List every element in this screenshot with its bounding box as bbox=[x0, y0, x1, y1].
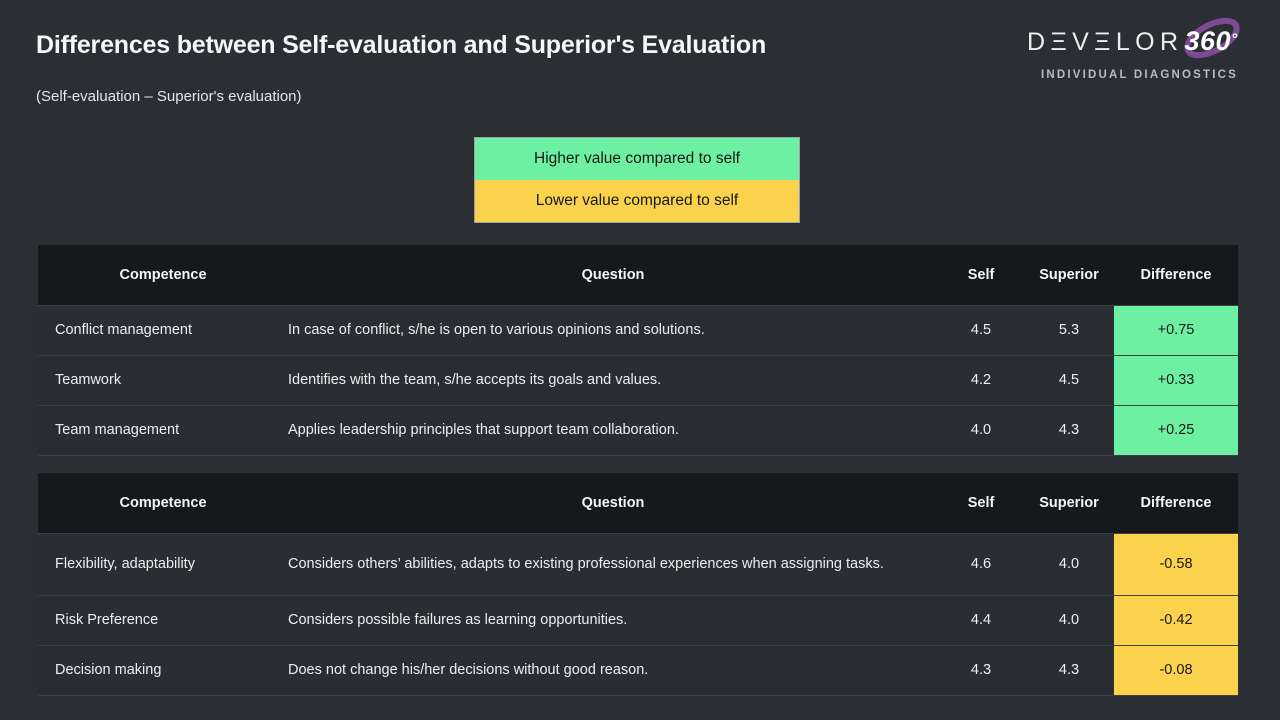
cell-competence: Risk Preference bbox=[38, 595, 288, 645]
table-header-row: Competence Question Self Superior Differ… bbox=[38, 245, 1238, 305]
cell-question: Identifies with the team, s/he accepts i… bbox=[288, 355, 938, 405]
logo-360-group: 360° bbox=[1184, 26, 1238, 57]
legend-item-lower: Lower value compared to self bbox=[475, 180, 799, 222]
legend-item-higher: Higher value compared to self bbox=[475, 138, 799, 180]
logo-tagline: INDIVIDUAL DIAGNOSTICS bbox=[978, 69, 1238, 81]
cell-competence: Team management bbox=[38, 405, 288, 455]
cell-difference: -0.42 bbox=[1114, 595, 1238, 645]
higher-values-table-body: Conflict managementIn case of conflict, … bbox=[38, 305, 1238, 455]
cell-question: Applies leadership principles that suppo… bbox=[288, 405, 938, 455]
logo-develor-text: DΞVΞLOR bbox=[1027, 28, 1183, 57]
logo-wordmark: DΞVΞLOR 360° bbox=[978, 26, 1238, 60]
cell-difference: +0.33 bbox=[1114, 355, 1238, 405]
cell-self: 4.2 bbox=[938, 355, 1024, 405]
cell-superior: 4.0 bbox=[1024, 533, 1114, 595]
cell-superior: 5.3 bbox=[1024, 305, 1114, 355]
cell-self: 4.6 bbox=[938, 533, 1024, 595]
page-title: Differences between Self-evaluation and … bbox=[36, 31, 766, 60]
cell-question: Considers possible failures as learning … bbox=[288, 595, 938, 645]
column-header-superior: Superior bbox=[1024, 245, 1114, 305]
page-subtitle: (Self-evaluation – Superior's evaluation… bbox=[36, 88, 302, 105]
cell-self: 4.3 bbox=[938, 645, 1024, 695]
cell-question: Considers others’ abilities, adapts to e… bbox=[288, 533, 938, 595]
cell-difference: +0.25 bbox=[1114, 405, 1238, 455]
table-row: Team managementApplies leadership princi… bbox=[38, 405, 1238, 455]
table-row: TeamworkIdentifies with the team, s/he a… bbox=[38, 355, 1238, 405]
logo-360-text: 360 bbox=[1184, 26, 1231, 56]
column-header-competence: Competence bbox=[38, 245, 288, 305]
cell-competence: Flexibility, adaptability bbox=[38, 533, 288, 595]
lower-values-table-body: Flexibility, adaptabilityConsiders other… bbox=[38, 533, 1238, 695]
column-header-superior: Superior bbox=[1024, 473, 1114, 533]
cell-competence: Decision making bbox=[38, 645, 288, 695]
column-header-competence: Competence bbox=[38, 473, 288, 533]
table-header-row: Competence Question Self Superior Differ… bbox=[38, 473, 1238, 533]
cell-competence: Teamwork bbox=[38, 355, 288, 405]
logo-degree-icon: ° bbox=[1232, 31, 1238, 48]
cell-difference: -0.58 bbox=[1114, 533, 1238, 595]
cell-difference: -0.08 bbox=[1114, 645, 1238, 695]
column-header-self: Self bbox=[938, 473, 1024, 533]
develor360-logo: DΞVΞLOR 360° INDIVIDUAL DIAGNOSTICS bbox=[978, 26, 1238, 81]
column-header-question: Question bbox=[288, 473, 938, 533]
table-row: Decision makingDoes not change his/her d… bbox=[38, 645, 1238, 695]
cell-question: In case of conflict, s/he is open to var… bbox=[288, 305, 938, 355]
cell-self: 4.5 bbox=[938, 305, 1024, 355]
column-header-difference: Difference bbox=[1114, 473, 1238, 533]
cell-question: Does not change his/her decisions withou… bbox=[288, 645, 938, 695]
cell-superior: 4.0 bbox=[1024, 595, 1114, 645]
cell-self: 4.0 bbox=[938, 405, 1024, 455]
table-row: Conflict managementIn case of conflict, … bbox=[38, 305, 1238, 355]
lower-values-table: Competence Question Self Superior Differ… bbox=[38, 473, 1238, 696]
legend: Higher value compared to self Lower valu… bbox=[474, 137, 800, 223]
cell-self: 4.4 bbox=[938, 595, 1024, 645]
column-header-self: Self bbox=[938, 245, 1024, 305]
cell-superior: 4.3 bbox=[1024, 645, 1114, 695]
cell-superior: 4.5 bbox=[1024, 355, 1114, 405]
higher-values-table: Competence Question Self Superior Differ… bbox=[38, 245, 1238, 456]
table-row: Flexibility, adaptabilityConsiders other… bbox=[38, 533, 1238, 595]
cell-competence: Conflict management bbox=[38, 305, 288, 355]
column-header-question: Question bbox=[288, 245, 938, 305]
table-row: Risk PreferenceConsiders possible failur… bbox=[38, 595, 1238, 645]
cell-difference: +0.75 bbox=[1114, 305, 1238, 355]
column-header-difference: Difference bbox=[1114, 245, 1238, 305]
cell-superior: 4.3 bbox=[1024, 405, 1114, 455]
